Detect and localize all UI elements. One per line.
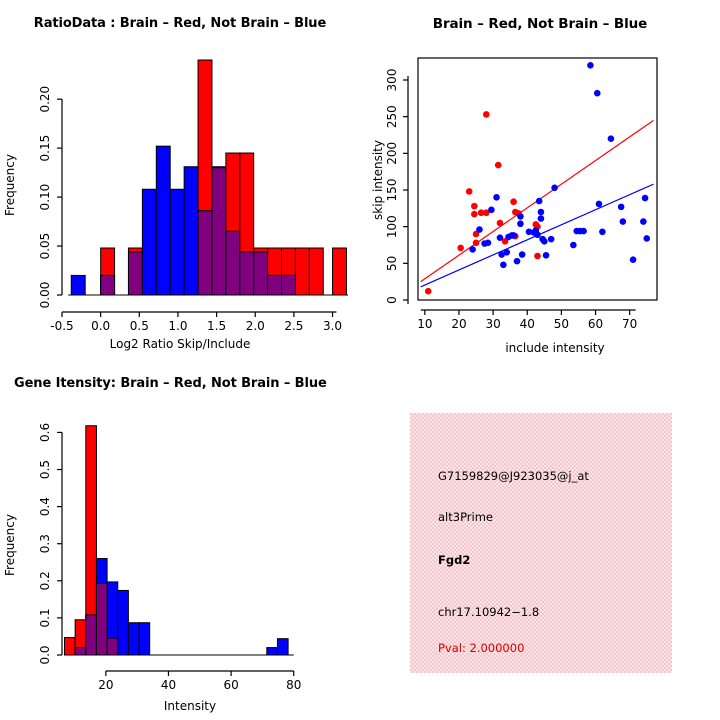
plot-frame — [418, 58, 657, 300]
scatter-point — [548, 236, 555, 243]
scatter-point — [471, 203, 478, 210]
scatter-point — [500, 262, 507, 269]
histogram-bar-brain — [65, 638, 76, 655]
histogram-bar-overlap — [86, 615, 97, 655]
scatter-point — [510, 198, 517, 205]
histogram-bar-overlap — [96, 583, 107, 655]
scatter-point — [570, 242, 577, 249]
scatter-point — [538, 215, 545, 222]
gene-symbol-text: Fgd2 — [438, 553, 470, 567]
y-tick-label: 150 — [385, 179, 399, 202]
x-tick-label: 10 — [417, 317, 432, 331]
scatter-point — [517, 220, 524, 227]
scatter-point — [541, 238, 548, 245]
y-tick-label: 0.3 — [38, 534, 52, 553]
histogram-bar-brain — [309, 248, 323, 295]
scatter-point — [599, 229, 606, 236]
x-tick-label: 80 — [286, 678, 301, 692]
x-tick-label: 20 — [451, 317, 466, 331]
x-tick-label: 50 — [554, 317, 569, 331]
gene-histogram-svg: 0.00.10.20.30.40.50.620406080 Intensity … — [0, 360, 360, 720]
x-tick-label: -0.5 — [50, 319, 73, 333]
gene-histogram-xlabel: Intensity — [164, 699, 216, 713]
ratio-histogram-svg: 0.000.050.100.150.20-0.50.00.51.01.52.02… — [0, 0, 360, 360]
histogram-bar-not-brain — [142, 189, 156, 295]
y-tick-label: 100 — [385, 215, 399, 238]
scatter-point — [425, 288, 432, 295]
scatter-point — [457, 245, 464, 252]
scatter-point — [543, 252, 550, 259]
y-tick-label: 250 — [385, 105, 399, 128]
panel-gene-histogram: Gene Itensity: Brain – Red, Not Brain – … — [0, 360, 360, 720]
plot-grid: RatioData : Brain – Red, Not Brain – Blu… — [0, 0, 720, 720]
scatter-point — [497, 234, 504, 241]
histogram-bar-overlap — [128, 252, 142, 295]
scatter-point — [551, 185, 558, 192]
y-tick-label: 0.05 — [38, 233, 52, 260]
histogram-bar-overlap — [198, 211, 212, 295]
pvalue-text: Pval: 2.000000 — [438, 641, 524, 655]
histogram-bar-not-brain — [184, 167, 198, 295]
histogram-bar-overlap — [226, 231, 240, 295]
y-tick-label: 0.4 — [38, 497, 52, 516]
x-tick-label: 0.5 — [130, 319, 149, 333]
panel-ratio-histogram: RatioData : Brain – Red, Not Brain – Blu… — [0, 0, 360, 360]
x-tick-label: 30 — [485, 317, 500, 331]
histogram-bar-overlap — [75, 648, 86, 655]
x-tick-label: 40 — [161, 678, 176, 692]
scatter-point — [476, 226, 483, 233]
scatter-point — [536, 198, 543, 205]
panel-scatter: Brain – Red, Not Brain – Blue 1020304050… — [360, 0, 720, 360]
x-tick-label: 40 — [520, 317, 535, 331]
y-tick-label: 0.00 — [38, 282, 52, 309]
scatter-ylabel: skip intensity — [371, 140, 385, 220]
x-tick-label: 1.0 — [168, 319, 187, 333]
histogram-bar-overlap — [268, 275, 282, 295]
ratio-histogram-xlabel: Log2 Ratio Skip/Include — [110, 337, 251, 351]
panel-gene-info: G7159829@J923035@j_at alt3Prime Fgd2 chr… — [360, 360, 720, 720]
scatter-points — [425, 62, 650, 294]
x-tick-label: 1.5 — [207, 319, 226, 333]
event-type-text: alt3Prime — [438, 510, 493, 524]
x-tick-label: 3.0 — [323, 319, 342, 333]
x-tick-label: 60 — [588, 317, 603, 331]
histogram-bar-not-brain — [118, 590, 129, 655]
histogram-bar-not-brain — [156, 146, 170, 295]
scatter-point — [594, 90, 601, 97]
gene-histogram-bars — [65, 426, 289, 655]
histogram-bar-brain — [333, 248, 347, 295]
scatter-point — [510, 232, 517, 239]
scatter-point — [471, 211, 478, 218]
scatter-point — [642, 195, 649, 202]
scatter-point — [514, 258, 521, 265]
scatter-point — [493, 194, 500, 201]
y-tick-label: 0.15 — [38, 135, 52, 162]
y-tick-label: 50 — [385, 256, 399, 271]
scatter-point — [620, 218, 627, 225]
histogram-bar-brain — [295, 248, 309, 295]
ratio-histogram-ylabel: Frequency — [3, 154, 17, 216]
x-tick-label: 60 — [223, 678, 238, 692]
y-tick-label: 0.10 — [38, 184, 52, 211]
scatter-point — [596, 201, 603, 208]
histogram-bar-overlap — [101, 275, 115, 295]
histogram-bar-overlap — [282, 275, 296, 295]
scatter-point — [466, 188, 473, 195]
x-tick-label: 70 — [622, 317, 637, 331]
y-tick-label: 300 — [385, 69, 399, 92]
histogram-bar-overlap — [107, 638, 118, 655]
scatter-point — [483, 111, 490, 118]
scatter-xlabel: include intensity — [505, 341, 604, 355]
y-tick-label: 0.6 — [38, 423, 52, 442]
y-tick-label: 0.0 — [38, 645, 52, 664]
scatter-svg: 10203040506070050100150200250300 include… — [360, 0, 720, 360]
histogram-bar-not-brain — [170, 189, 184, 295]
scatter-point — [488, 207, 495, 214]
scatter-point — [534, 253, 541, 260]
scatter-point — [640, 218, 647, 225]
histogram-bar-not-brain — [277, 639, 288, 655]
histogram-bar-not-brain — [267, 648, 278, 655]
scatter-point — [469, 246, 476, 253]
scatter-point — [538, 209, 545, 216]
scatter-point — [643, 235, 650, 242]
histogram-bar-overlap — [240, 252, 254, 295]
scatter-point — [519, 251, 526, 258]
scatter-point — [630, 256, 637, 263]
histogram-bar-not-brain — [128, 623, 139, 655]
scatter-point — [495, 162, 502, 169]
histogram-bar-not-brain — [139, 623, 150, 655]
gene-histogram-ylabel: Frequency — [3, 514, 17, 576]
scatter-point — [534, 231, 541, 238]
scatter-point — [497, 220, 504, 227]
y-tick-label: 0 — [385, 296, 399, 304]
y-tick-label: 200 — [385, 142, 399, 165]
scatter-point — [587, 62, 594, 69]
y-tick-label: 0.1 — [38, 608, 52, 627]
y-tick-label: 0.20 — [38, 86, 52, 113]
histogram-bar-overlap — [254, 252, 268, 295]
y-tick-label: 0.5 — [38, 460, 52, 479]
x-tick-label: 2.5 — [284, 319, 303, 333]
scatter-point — [473, 240, 480, 247]
scatter-point — [485, 240, 492, 247]
scatter-point — [608, 135, 615, 142]
scatter-point — [517, 213, 524, 220]
histogram-bar-not-brain — [71, 275, 85, 295]
locus-text: chr17.10942−1.8 — [438, 605, 539, 619]
x-tick-label: 0.0 — [91, 319, 110, 333]
ratio-histogram-bars — [71, 60, 346, 295]
scatter-plot-box — [418, 58, 657, 300]
probe-id-text: G7159829@J923035@j_at — [438, 469, 589, 483]
y-tick-label: 0.2 — [38, 571, 52, 590]
x-tick-label: 2.0 — [246, 319, 265, 333]
histogram-bar-overlap — [212, 168, 226, 295]
scatter-point — [618, 204, 625, 211]
gene-info-box: G7159829@J923035@j_at alt3Prime Fgd2 chr… — [410, 413, 672, 673]
x-tick-label: 20 — [98, 678, 113, 692]
scatter-point — [503, 249, 510, 256]
scatter-point — [580, 228, 587, 235]
